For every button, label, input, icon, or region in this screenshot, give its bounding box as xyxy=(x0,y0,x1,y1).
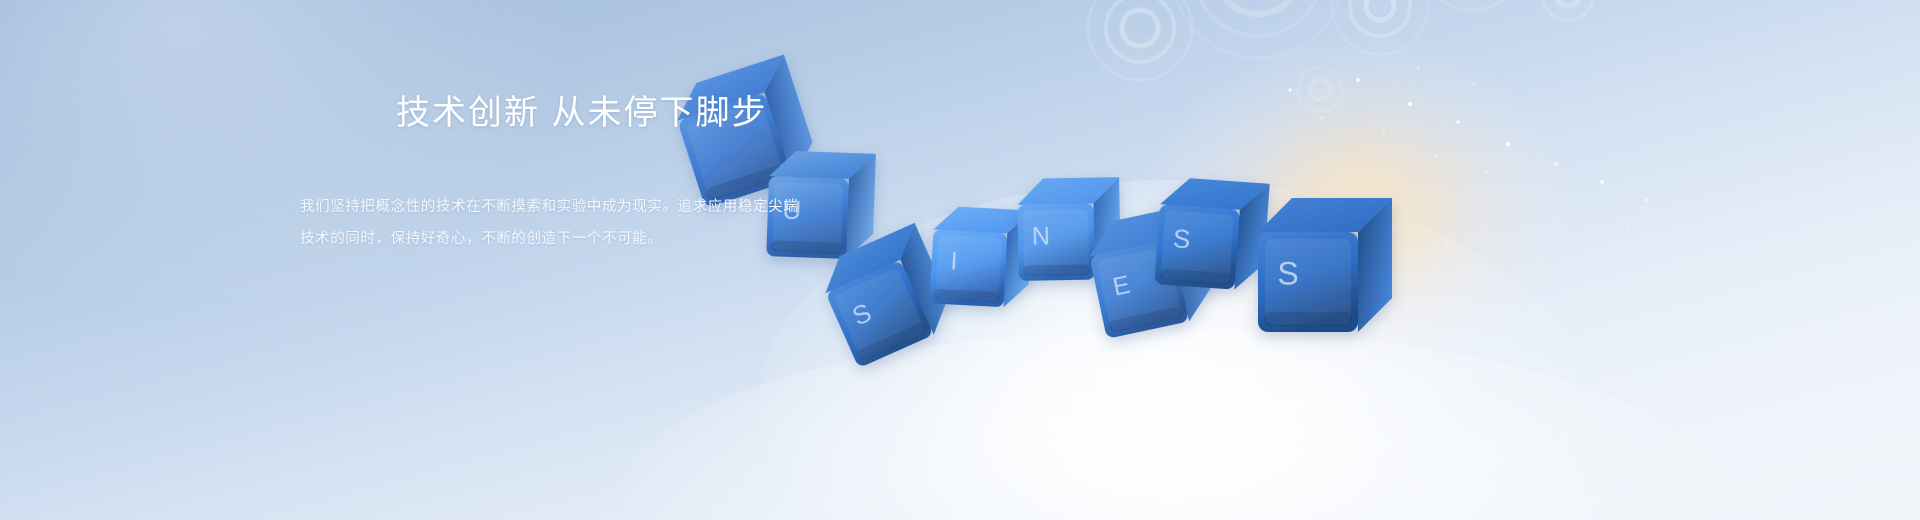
hero-banner: USINESS 技术创新 从未停下脚步 我们坚持把概念性的技术在不断摸索和实验中… xyxy=(0,0,1920,520)
keycap-letter: S xyxy=(1277,255,1298,291)
keycap-letter: S xyxy=(1172,223,1191,254)
keycap-bottom-shadow xyxy=(1264,312,1352,326)
page-title: 技术创新 从未停下脚步 xyxy=(396,92,920,135)
keycap-letter: N xyxy=(1032,222,1051,250)
concentric-rings-decoration xyxy=(1020,0,1640,170)
bottom-glow xyxy=(620,330,1720,520)
keycap-s: S xyxy=(1252,192,1400,340)
keycap-letter: I xyxy=(950,248,958,276)
banner-copy: 技术创新 从未停下脚步 我们坚持把概念性的技术在不断摸索和实验中成为现实。追求应… xyxy=(300,92,920,256)
banner-description: 我们坚持把概念性的技术在不断摸索和实验中成为现实。追求应用稳定尖端 技术的同时，… xyxy=(300,191,920,256)
description-line-1: 我们坚持把概念性的技术在不断摸索和实验中成为现实。追求应用稳定尖端 xyxy=(300,191,920,224)
keycap-bottom-shadow xyxy=(1023,264,1090,276)
description-line-2: 技术的同时，保持好奇心，不断的创造下一个不可能。 xyxy=(300,223,920,256)
